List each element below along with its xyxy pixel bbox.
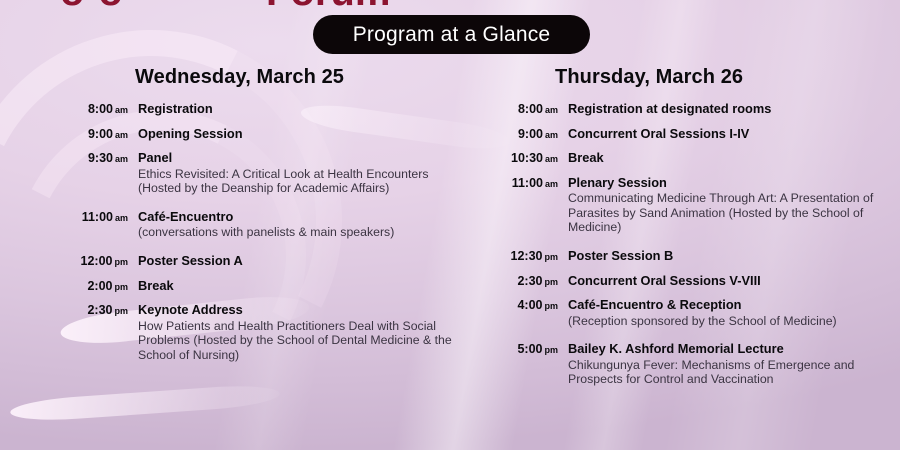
schedule-row: 2:30pmKeynote AddressHow Patients and He… <box>50 302 460 362</box>
schedule-row-time-value: 5:00 <box>517 342 542 356</box>
schedule-row-title: Plenary Session <box>568 175 895 191</box>
schedule-row-title: Registration at designated rooms <box>568 101 895 117</box>
schedule-row: 5:00pmBailey K. Ashford Memorial Lecture… <box>480 341 895 387</box>
schedule-row-time: 8:00am <box>480 101 568 116</box>
schedule-row-meridiem: am <box>545 154 558 164</box>
schedule-row: 8:00amRegistration <box>50 101 460 117</box>
schedule-row-time-value: 9:00 <box>518 127 543 141</box>
schedule-row: 8:00amRegistration at designated rooms <box>480 101 895 117</box>
schedule-row-title: Poster Session B <box>568 248 895 264</box>
schedule-row-time-value: 11:00 <box>512 176 543 190</box>
schedule-row-subtitle: (conversations with panelists & main spe… <box>138 225 460 240</box>
schedule-row: 9:00amConcurrent Oral Sessions I-IV <box>480 126 895 142</box>
program-at-a-glance-badge: Program at a Glance <box>313 15 590 54</box>
schedule-row-time-value: 2:00 <box>87 279 112 293</box>
schedule-row-title: Break <box>568 150 895 166</box>
schedule-row-body: PanelEthics Revisited: A Critical Look a… <box>138 150 460 196</box>
forum-wordmark: Forum <box>266 0 390 13</box>
schedule-row: 12:00pmPoster Session A <box>50 253 460 269</box>
schedule-row-title: Panel <box>138 150 460 166</box>
schedule-row-time: 12:30pm <box>480 248 568 263</box>
schedule-row: 11:00amCafé-Encuentro(conversations with… <box>50 209 460 240</box>
schedule-row-title: Poster Session A <box>138 253 460 269</box>
schedule-row-time-value: 9:00 <box>88 127 113 141</box>
cropped-logo-strip: oo Forum <box>0 0 900 13</box>
schedule-row-subtitle: Communicating Medicine Through Art: A Pr… <box>568 191 895 235</box>
schedule-row-title: Registration <box>138 101 460 117</box>
schedule-row-time-value: 12:30 <box>511 249 543 263</box>
schedule-row-meridiem: pm <box>115 257 129 267</box>
schedule-row-body: Concurrent Oral Sessions I-IV <box>568 126 895 142</box>
schedule-row-time: 5:00pm <box>480 341 568 356</box>
schedule-row-title: Bailey K. Ashford Memorial Lecture <box>568 341 895 357</box>
schedule-row-body: Poster Session A <box>138 253 460 269</box>
schedule-row-body: Registration at designated rooms <box>568 101 895 117</box>
schedule-row-body: Plenary SessionCommunicating Medicine Th… <box>568 175 895 235</box>
schedule-row-meridiem: pm <box>115 306 129 316</box>
schedule-row-body: Café-Encuentro(conversations with paneli… <box>138 209 460 240</box>
schedule-row-meridiem: am <box>545 179 558 189</box>
schedule-row-time-value: 8:00 <box>88 102 113 116</box>
schedule-row-title: Keynote Address <box>138 302 460 318</box>
schedule-row-meridiem: pm <box>545 252 559 262</box>
schedule-row-meridiem: am <box>115 213 128 223</box>
schedule-row-time: 11:00am <box>50 209 138 224</box>
schedule-row-body: Opening Session <box>138 126 460 142</box>
schedule-row-title: Concurrent Oral Sessions V-VIII <box>568 273 895 289</box>
schedule-rows-wednesday: 8:00amRegistration9:00amOpening Session9… <box>50 101 460 362</box>
schedule-row-subtitle: Chikungunya Fever: Mechanisms of Emergen… <box>568 358 895 387</box>
schedule-row-subtitle: How Patients and Health Practitioners De… <box>138 319 460 363</box>
schedule-row-time: 2:30pm <box>480 273 568 288</box>
schedule-row-subtitle: (Reception sponsored by the School of Me… <box>568 314 895 329</box>
schedule-row-meridiem: pm <box>115 282 129 292</box>
schedule-row-meridiem: am <box>115 130 128 140</box>
schedule-row-meridiem: am <box>545 130 558 140</box>
schedule-column-wednesday: Wednesday, March 25 8:00amRegistration9:… <box>50 66 460 375</box>
logo-letters: oo <box>60 0 137 13</box>
schedule-row-time: 10:30am <box>480 150 568 165</box>
schedule-row-time: 9:00am <box>480 126 568 141</box>
schedule-row-meridiem: pm <box>545 301 559 311</box>
day-title-wednesday: Wednesday, March 25 <box>50 66 460 89</box>
schedule-row-time-value: 9:30 <box>88 151 113 165</box>
schedule-row-body: Bailey K. Ashford Memorial LectureChikun… <box>568 341 895 387</box>
schedule-row-title: Café-Encuentro & Reception <box>568 297 895 313</box>
schedule-row-meridiem: am <box>545 105 558 115</box>
schedule-row-time: 2:00pm <box>50 278 138 293</box>
schedule-row: 12:30pmPoster Session B <box>480 248 895 264</box>
schedule-row-body: Keynote AddressHow Patients and Health P… <box>138 302 460 362</box>
schedule-rows-thursday: 8:00amRegistration at designated rooms9:… <box>480 101 895 387</box>
schedule-row-time: 4:00pm <box>480 297 568 312</box>
schedule-row-time-value: 4:00 <box>517 298 542 312</box>
schedule-row-title: Concurrent Oral Sessions I-IV <box>568 126 895 142</box>
schedule-row-subtitle: Ethics Revisited: A Critical Look at Hea… <box>138 167 460 196</box>
schedule-row: 2:30pmConcurrent Oral Sessions V-VIII <box>480 273 895 289</box>
schedule-row-time: 9:00am <box>50 126 138 141</box>
schedule-row: 4:00pmCafé-Encuentro & Reception(Recepti… <box>480 297 895 328</box>
schedule-row-body: Registration <box>138 101 460 117</box>
schedule-row-time-value: 2:30 <box>87 303 112 317</box>
day-title-thursday: Thursday, March 26 <box>480 66 895 89</box>
schedule-row-meridiem: pm <box>545 345 559 355</box>
schedule-column-thursday: Thursday, March 26 8:00amRegistration at… <box>480 66 895 400</box>
schedule-row-time: 9:30am <box>50 150 138 165</box>
program-poster: oo Forum Program at a Glance Wednesday, … <box>0 0 900 450</box>
program-at-a-glance-label: Program at a Glance <box>353 23 551 47</box>
schedule-row-time-value: 2:30 <box>517 274 542 288</box>
schedule-row-meridiem: am <box>115 154 128 164</box>
schedule-row-time-value: 11:00 <box>82 210 113 224</box>
schedule-row-time: 11:00am <box>480 175 568 190</box>
schedule-row-time: 2:30pm <box>50 302 138 317</box>
schedule-row-title: Opening Session <box>138 126 460 142</box>
schedule-row-body: Poster Session B <box>568 248 895 264</box>
schedule-row: 2:00pmBreak <box>50 278 460 294</box>
schedule-row: 10:30amBreak <box>480 150 895 166</box>
schedule-row-title: Café-Encuentro <box>138 209 460 225</box>
schedule-row-time-value: 8:00 <box>518 102 543 116</box>
schedule-row-meridiem: am <box>115 105 128 115</box>
schedule-row-time-value: 12:00 <box>81 254 113 268</box>
schedule-row: 11:00amPlenary SessionCommunicating Medi… <box>480 175 895 235</box>
schedule-row-body: Break <box>568 150 895 166</box>
schedule-row-time: 8:00am <box>50 101 138 116</box>
schedule-row-body: Break <box>138 278 460 294</box>
schedule-row: 9:00amOpening Session <box>50 126 460 142</box>
schedule-row-meridiem: pm <box>545 277 559 287</box>
schedule-row: 9:30amPanelEthics Revisited: A Critical … <box>50 150 460 196</box>
schedule-row-title: Break <box>138 278 460 294</box>
schedule-row-body: Concurrent Oral Sessions V-VIII <box>568 273 895 289</box>
schedule-row-time-value: 10:30 <box>511 151 543 165</box>
schedule-row-time: 12:00pm <box>50 253 138 268</box>
schedule-row-body: Café-Encuentro & Reception(Reception spo… <box>568 297 895 328</box>
